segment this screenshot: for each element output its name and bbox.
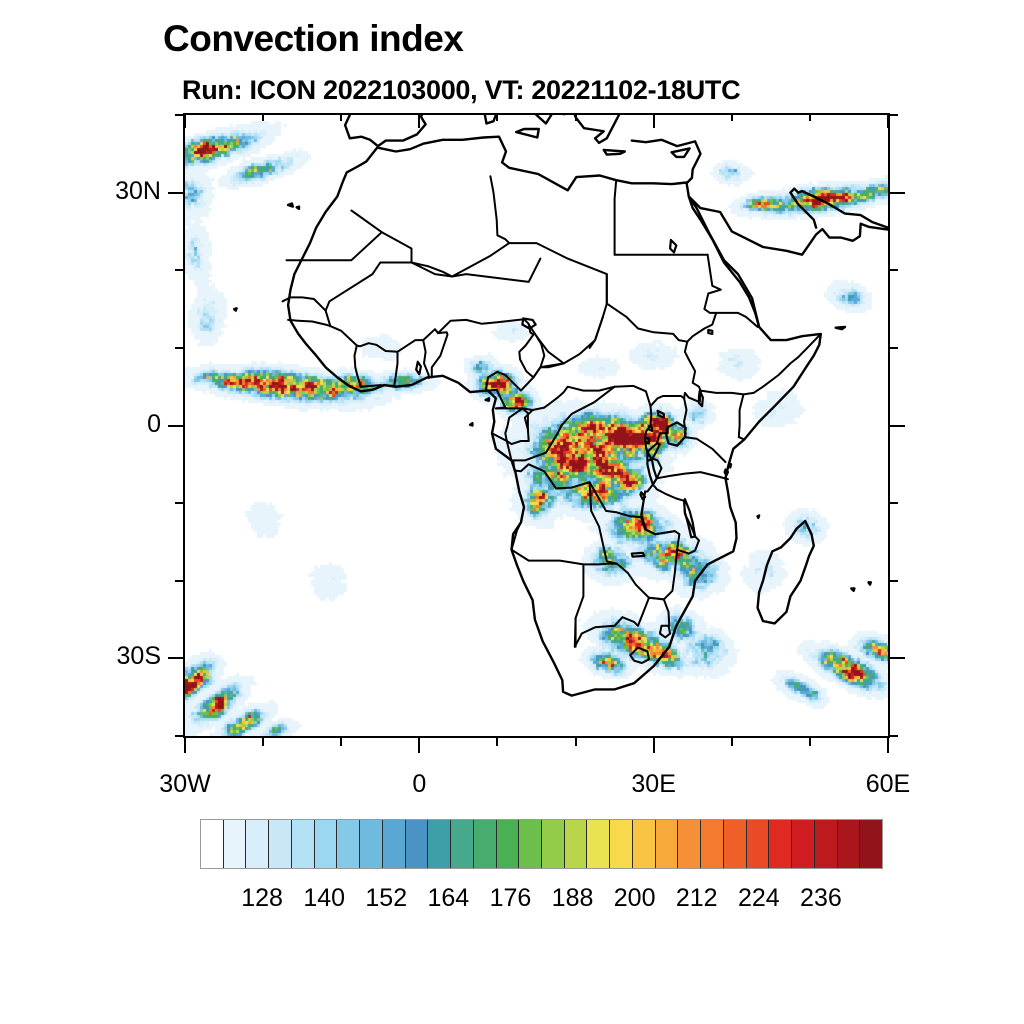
colorbar-cell [838,820,861,868]
y-minor-tick [175,347,183,349]
colorbar-cell [633,820,656,868]
y-axis-label: 0 [41,410,161,439]
x-minor-tick [496,738,498,746]
y-minor-tick-right [890,269,898,271]
colorbar-cell [428,820,451,868]
colorbar-cell [678,820,701,868]
colorbar-cell [201,820,224,868]
x-axis-label: 60E [808,770,968,799]
y-minor-tick [175,735,183,737]
run-valid-time-subtitle: Run: ICON 2022103000, VT: 20221102-18UTC [182,75,740,106]
y-minor-tick-right [890,580,898,582]
x-minor-tick-top [262,113,264,121]
y-minor-tick [175,580,183,582]
y-major-tick-right [890,192,905,194]
x-minor-tick-top [575,113,577,121]
x-axis-label: 0 [339,770,499,799]
map-plot-area[interactable] [183,113,890,738]
y-major-tick [168,657,183,659]
colorbar-cell [474,820,497,868]
x-axis-label: 30W [105,770,265,799]
colorbar-cell [860,820,882,868]
colorbar-cell [701,820,724,868]
colorbar-cell [224,820,247,868]
y-minor-tick [175,269,183,271]
x-minor-tick [731,738,733,746]
colorbar-cell [565,820,588,868]
y-minor-tick [175,502,183,504]
colorbar-cell [451,820,474,868]
colorbar-cell [315,820,338,868]
x-minor-tick [262,738,264,746]
y-minor-tick-right [890,347,898,349]
colorbar-tick-label: 140 [303,884,345,913]
y-major-tick-right [890,657,905,659]
colorbar-tick-label: 128 [241,884,283,913]
x-minor-tick-top [340,113,342,121]
colorbar-tick-label: 212 [676,884,718,913]
x-minor-tick [575,738,577,746]
x-minor-tick-top [809,113,811,121]
y-axis-label: 30N [41,177,161,206]
x-axis-label: 30E [574,770,734,799]
colorbar-tick-label: 176 [490,884,532,913]
colorbar-cell [587,820,610,868]
x-major-tick-top [418,113,420,128]
colorbar-tick-label: 188 [552,884,594,913]
colorbar-cell [292,820,315,868]
colorbar-cell [246,820,269,868]
y-minor-tick-right [890,502,898,504]
y-minor-tick-right [890,114,898,116]
x-major-tick [418,738,420,753]
colorbar-tick-label: 236 [800,884,842,913]
x-major-tick [887,738,889,753]
colorbar-cell [815,820,838,868]
x-major-tick [184,738,186,753]
colorbar-cell [497,820,520,868]
x-minor-tick [340,738,342,746]
x-major-tick [653,738,655,753]
y-major-tick [168,425,183,427]
colorbar-cell [406,820,429,868]
colorbar-tick-label: 224 [738,884,780,913]
colorbar-cell [269,820,292,868]
x-minor-tick-top [496,113,498,121]
colorbar-cell [792,820,815,868]
colorbar-tick-label: 200 [614,884,656,913]
x-major-tick-top [184,113,186,128]
colorbar-cell [656,820,679,868]
x-major-tick-top [887,113,889,128]
colorbar[interactable] [200,819,883,869]
x-minor-tick [809,738,811,746]
colorbar-cell [383,820,406,868]
colorbar-cell [610,820,633,868]
colorbar-cell [542,820,565,868]
colorbar-cell [360,820,383,868]
convection-index-field [185,115,888,736]
y-major-tick [168,192,183,194]
colorbar-cell [724,820,747,868]
colorbar-cell [747,820,770,868]
colorbar-cell [337,820,360,868]
colorbar-tick-label: 164 [428,884,470,913]
colorbar-cell [519,820,542,868]
x-minor-tick-top [731,113,733,121]
y-major-tick-right [890,425,905,427]
colorbar-cell [769,820,792,868]
page-title: Convection index [163,18,463,60]
y-minor-tick [175,114,183,116]
y-axis-label: 30S [41,642,161,671]
y-minor-tick-right [890,735,898,737]
x-major-tick-top [653,113,655,128]
colorbar-tick-label: 152 [365,884,407,913]
